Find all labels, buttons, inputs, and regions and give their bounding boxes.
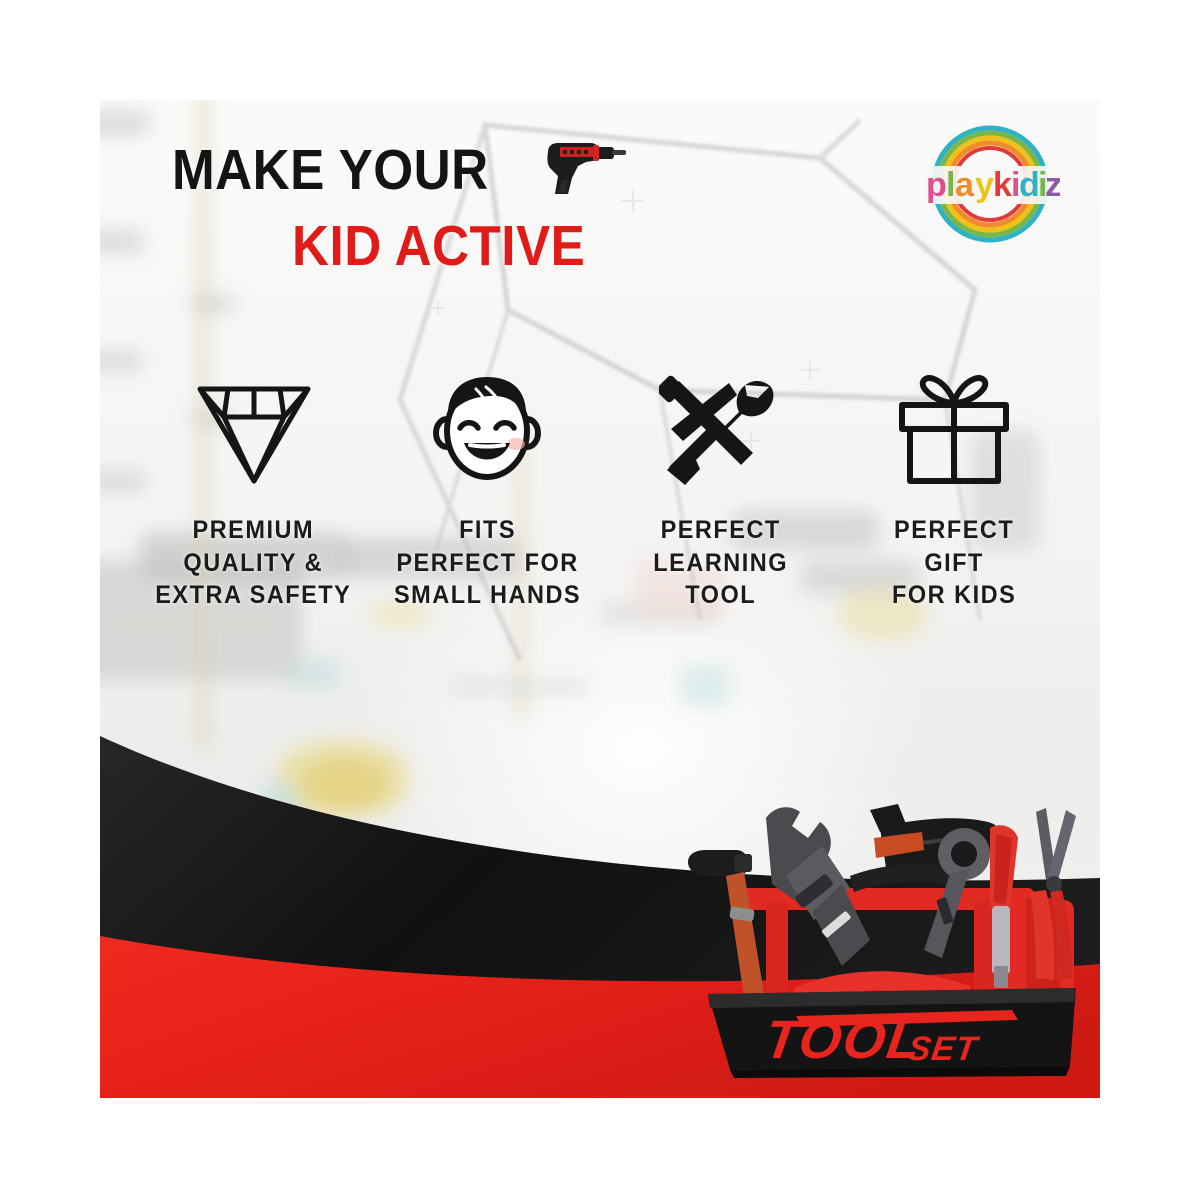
feature-item-perfect-gift: PERFECT GIFT FOR KIDS: [847, 372, 1062, 612]
wrench-screwdriver-icon: [659, 372, 783, 490]
feature-row: PREMIUM QUALITY & EXTRA SAFETY: [146, 372, 1062, 612]
product-marketing-image: MAKE YOUR KID ACT: [0, 0, 1200, 1200]
svg-text:z: z: [1045, 166, 1060, 204]
feature-item-learning-tool: PERFECT LEARNING TOOL: [613, 372, 828, 612]
feature-label: FITS PERFECT FOR SMALL HANDS: [394, 514, 581, 612]
svg-text:y: y: [975, 166, 994, 204]
toolbox-product-image: TOOL SET: [674, 780, 1094, 1080]
svg-text:TOOL: TOOL: [761, 1010, 926, 1070]
feature-item-small-hands: FITS PERFECT FOR SMALL HANDS: [380, 372, 595, 612]
svg-text:SET: SET: [906, 1030, 983, 1068]
sparkle-icon: [430, 300, 446, 316]
content-frame: MAKE YOUR KID ACT: [100, 100, 1100, 1098]
smiling-child-icon: [424, 372, 550, 490]
pliers-tool: [1030, 808, 1076, 980]
feature-label: PREMIUM QUALITY & EXTRA SAFETY: [155, 514, 351, 612]
power-drill-icon: [538, 136, 630, 200]
headline-block: MAKE YOUR KID ACT: [172, 136, 812, 275]
feature-item-premium-quality: PREMIUM QUALITY & EXTRA SAFETY: [146, 372, 361, 612]
headline-line-1: MAKE YOUR: [172, 143, 489, 199]
svg-text:a: a: [955, 166, 975, 204]
hammer-tool: [688, 850, 766, 1010]
headline-line-2: KID ACTIVE: [292, 218, 760, 275]
diamond-icon: [184, 372, 324, 490]
playkidiz-logo: p l a y k i d i z: [920, 114, 1060, 254]
feature-label: PERFECT LEARNING TOOL: [653, 514, 788, 612]
svg-text:k: k: [993, 166, 1012, 204]
gift-box-icon: [892, 372, 1016, 490]
svg-text:d: d: [1019, 166, 1040, 204]
feature-label: PERFECT GIFT FOR KIDS: [892, 514, 1016, 612]
svg-text:p: p: [926, 166, 947, 204]
